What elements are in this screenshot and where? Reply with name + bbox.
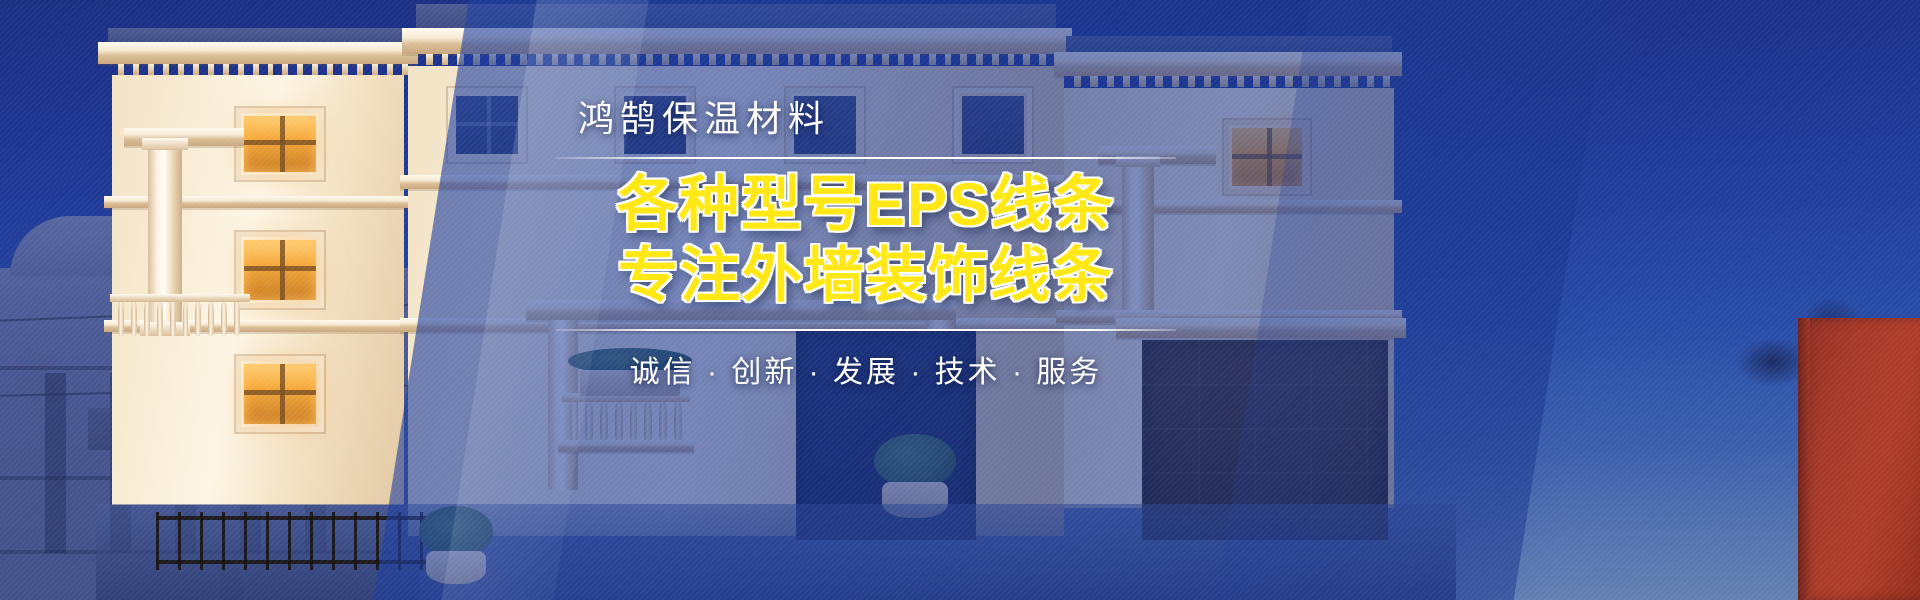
tagline: 诚信 · 创新 · 发展 · 技术 · 服务 [556, 347, 1176, 391]
banner-copy: 鸿鹄保温材料 各种型号EPS线条 专注外墙装饰线条 诚信 · 创新 · 发展 ·… [556, 96, 1176, 391]
headline-line-2: 专注外墙装饰线条 [556, 244, 1176, 309]
promo-banner: 鸿鹄保温材料 各种型号EPS线条 专注外墙装饰线条 诚信 · 创新 · 发展 ·… [0, 0, 1920, 600]
divider-bottom [556, 329, 1176, 331]
brand-name: 鸿鹄保温材料 [556, 96, 1176, 141]
divider-top [556, 157, 1176, 159]
headline-line-1: 各种型号EPS线条 [556, 173, 1176, 238]
